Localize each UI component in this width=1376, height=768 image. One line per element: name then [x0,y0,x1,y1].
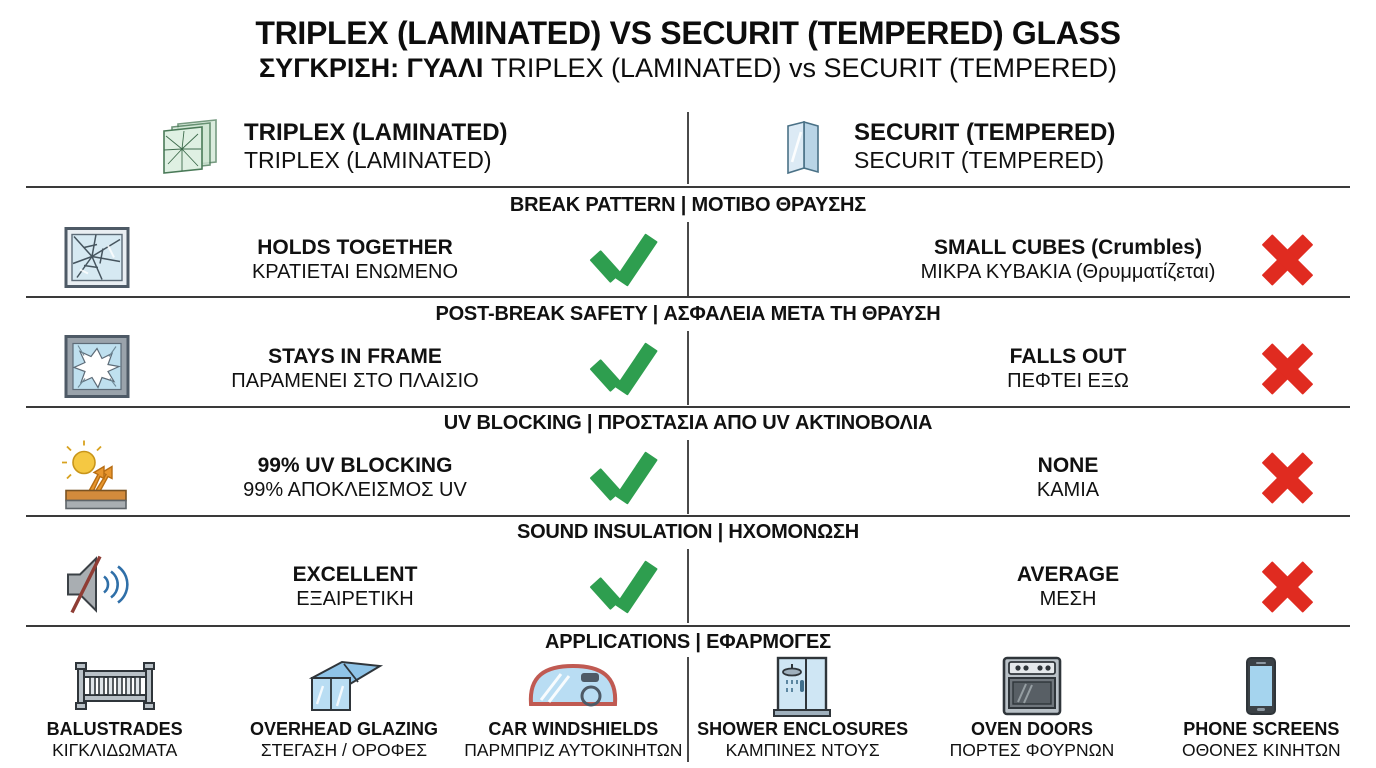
application-oven-doors: OVEN DOORS ΠΟΡΤΕΣ ΦΟΥΡΝΩΝ [917,655,1146,768]
application-overhead-glazing-el: ΣΤΕΓΑΣΗ / ΟΡΟΦΕΣ [261,740,427,761]
applications-right: SHOWER ENCLOSURES ΚΑΜΠΙΝΕΣ ΝΤΟΥΣ OVEN DO… [688,655,1376,768]
application-overhead-glazing: OVERHEAD GLAZING ΣΤΕΓΑΣΗ / ΟΡΟΦΕΣ [229,655,458,768]
section-band-break-pattern: BREAK PATTERN | ΜΟΤΙΒΟ ΘΡΑΥΣΗΣ [0,192,1376,218]
cross-icon [1260,560,1314,614]
application-oven-doors-en: OVEN DOORS [971,719,1093,740]
section-band-applications: APPLICATIONS | ΕΦΑΡΜΟΓΕΣ [0,629,1376,655]
row-break-pattern-left-check [590,234,656,286]
rule-above-sound-insulation [26,515,1350,517]
balustrade-icon [60,657,170,717]
row-break-pattern-left-el: ΚΡΑΤΙΕΤΑΙ ΕΝΩΜΕΝΟ [175,260,535,284]
title-main: TRIPLEX (LAMINATED) VS SECURIT (TEMPERED… [0,16,1376,52]
column-header-tempered: SECURIT (TEMPERED) SECURIT (TEMPERED) [688,108,1376,186]
column-header-row: TRIPLEX (LAMINATED) TRIPLEX (LAMINATED) … [0,108,1376,186]
column-header-laminated: TRIPLEX (LAMINATED) TRIPLEX (LAMINATED) [0,108,688,186]
row-post-break-safety-left-text: STAYS IN FRAME ΠΑΡΑΜΕΝΕΙ ΣΤΟ ΠΛΑΙΣΙΟ [175,345,535,393]
row-post-break-safety-right-text: FALLS OUT ΠΕΦΤΕΙ ΕΞΩ [848,345,1288,393]
application-car-windshields-el: ΠΑΡΜΠΡΙΖ ΑΥΤΟΚΙΝΗΤΩΝ [464,740,682,761]
application-balustrades-en: BALUSTRADES [47,719,183,740]
row-post-break-safety-left-el: ΠΑΡΑΜΕΝΕΙ ΣΤΟ ΠΛΑΙΣΙΟ [175,369,535,393]
windshield-icon [519,657,627,717]
check-icon [590,234,656,286]
row-break-pattern: HOLDS TOGETHER ΚΡΑΤΙΕΤΑΙ ΕΝΩΜΕΝΟ [0,219,1376,301]
title-subtitle-bold: ΣΥΓΚΡΙΣΗ: ΓΥΑΛΙ [259,53,491,83]
shower-enclosure-icon [766,657,840,717]
column-header-tempered-el: SECURIT (TEMPERED) [854,147,1115,173]
rule-above-post-break-safety [26,296,1350,298]
title-subtitle-rest: TRIPLEX (LAMINATED) vs SECURIT (TEMPERED… [491,53,1117,83]
row-sound-insulation-right: AVERAGE ΜΕΣΗ [688,546,1376,628]
column-header-tempered-text: SECURIT (TEMPERED) SECURIT (TEMPERED) [854,120,1115,173]
rule-above-applications [26,625,1350,627]
row-sound-insulation: EXCELLENT ΕΞΑΙΡΕΤΙΚΗ AVERAGE ΜΕΣΗ [0,546,1376,628]
row-uv-blocking-left: 99% UV BLOCKING 99% ΑΠΟΚΛΕΙΣΜΟΣ UV [0,437,688,519]
application-car-windshields-en: CAR WINDSHIELDS [488,719,658,740]
rule-above-uv-blocking [26,406,1350,408]
row-sound-insulation-left-text: EXCELLENT ΕΞΑΙΡΕΤΙΚΗ [175,563,535,611]
row-sound-insulation-right-el: ΜΕΣΗ [848,587,1288,611]
row-uv-blocking-right-el: ΚΑΜΙΑ [848,478,1288,502]
row-uv-blocking-right-text: NONE ΚΑΜΙΑ [848,454,1288,502]
application-shower-enclosures: SHOWER ENCLOSURES ΚΑΜΠΙΝΕΣ ΝΤΟΥΣ [688,655,917,768]
application-overhead-glazing-en: OVERHEAD GLAZING [250,719,438,740]
row-post-break-safety-right-en: FALLS OUT [848,345,1288,369]
application-car-windshields: CAR WINDSHIELDS ΠΑΡΜΠΡΙΖ ΑΥΤΟΚΙΝΗΤΩΝ [459,655,688,768]
row-sound-insulation-right-cross [1260,560,1314,614]
applications-row: BALUSTRADES ΚΙΓΚΛΙΔΩΜΑΤΑ OVERHEAD GL [0,655,1376,768]
application-shower-enclosures-en: SHOWER ENCLOSURES [697,719,908,740]
row-sound-insulation-left-en: EXCELLENT [175,563,535,587]
application-balustrades: BALUSTRADES ΚΙΓΚΛΙΔΩΜΑΤΑ [0,655,229,768]
cross-icon [1260,233,1314,287]
check-icon [590,561,656,613]
row-uv-blocking: 99% UV BLOCKING 99% ΑΠΟΚΛΕΙΣΜΟΣ UV [0,437,1376,519]
cross-icon [1260,342,1314,396]
title-subtitle: ΣΥΓΚΡΙΣΗ: ΓΥΑΛΙ TRIPLEX (LAMINATED) vs S… [0,53,1376,84]
tempered-glass-icon [768,116,840,178]
applications-left: BALUSTRADES ΚΙΓΚΛΙΔΩΜΑΤΑ OVERHEAD GL [0,655,688,768]
laminated-glass-icon [158,116,230,178]
sun-reflecting-icon [62,441,148,516]
application-phone-screens-en: PHONE SCREENS [1183,719,1339,740]
row-uv-blocking-right-en: NONE [848,454,1288,478]
row-post-break-safety-right-el: ΠΕΦΤΕΙ ΕΞΩ [848,369,1288,393]
infographic-page: TRIPLEX (LAMINATED) VS SECURIT (TEMPERED… [0,0,1376,768]
page-title: TRIPLEX (LAMINATED) VS SECURIT (TEMPERED… [0,0,1376,84]
row-break-pattern-left-en: HOLDS TOGETHER [175,236,535,260]
shattered-window-in-frame-icon [62,334,132,405]
cross-icon [1260,451,1314,505]
row-uv-blocking-left-el: 99% ΑΠΟΚΛΕΙΣΜΟΣ UV [175,478,535,502]
column-header-laminated-en: TRIPLEX (LAMINATED) [244,120,508,147]
row-break-pattern-right-en: SMALL CUBES (Crumbles) [848,236,1288,260]
speaker-muted-icon [62,553,146,622]
row-sound-insulation-right-text: AVERAGE ΜΕΣΗ [848,563,1288,611]
column-header-tempered-en: SECURIT (TEMPERED) [854,120,1115,147]
phone-screen-icon [1237,657,1285,717]
row-post-break-safety-left: STAYS IN FRAME ΠΑΡΑΜΕΝΕΙ ΣΤΟ ΠΛΑΙΣΙΟ [0,328,688,410]
skylight-icon [298,657,390,717]
row-break-pattern-left-text: HOLDS TOGETHER ΚΡΑΤΙΕΤΑΙ ΕΝΩΜΕΝΟ [175,236,535,284]
row-sound-insulation-left-check [590,561,656,613]
row-post-break-safety-right: FALLS OUT ΠΕΦΤΕΙ ΕΞΩ [688,328,1376,410]
column-header-laminated-text: TRIPLEX (LAMINATED) TRIPLEX (LAMINATED) [244,120,508,173]
row-sound-insulation-left-el: ΕΞΑΙΡΕΤΙΚΗ [175,587,535,611]
row-post-break-safety: STAYS IN FRAME ΠΑΡΑΜΕΝΕΙ ΣΤΟ ΠΛΑΙΣΙΟ [0,328,1376,410]
application-oven-doors-el: ΠΟΡΤΕΣ ΦΟΥΡΝΩΝ [950,740,1115,761]
section-band-post-break-safety: POST-BREAK SAFETY | ΑΣΦΑΛΕΙΑ ΜΕΤΑ ΤΗ ΘΡΑ… [0,301,1376,327]
check-icon [590,452,656,504]
row-uv-blocking-right: NONE ΚΑΜΙΑ [688,437,1376,519]
row-uv-blocking-left-text: 99% UV BLOCKING 99% ΑΠΟΚΛΕΙΣΜΟΣ UV [175,454,535,502]
row-break-pattern-right-el: ΜΙΚΡΑ ΚΥΒΑΚΙΑ (Θρυμματίζεται) [848,260,1288,284]
row-post-break-safety-left-check [590,343,656,395]
row-break-pattern-left: HOLDS TOGETHER ΚΡΑΤΙΕΤΑΙ ΕΝΩΜΕΝΟ [0,219,688,301]
row-break-pattern-right: SMALL CUBES (Crumbles) ΜΙΚΡΑ ΚΥΒΑΚΙΑ (Θρ… [688,219,1376,301]
application-phone-screens: PHONE SCREENS ΟΘΟΝΕΣ ΚΙΝΗΤΩΝ [1147,655,1376,768]
application-balustrades-el: ΚΙΓΚΛΙΔΩΜΑΤΑ [52,740,177,761]
row-break-pattern-right-cross [1260,233,1314,287]
row-uv-blocking-left-check [590,452,656,504]
row-sound-insulation-left: EXCELLENT ΕΞΑΙΡΕΤΙΚΗ [0,546,688,628]
row-break-pattern-right-text: SMALL CUBES (Crumbles) ΜΙΚΡΑ ΚΥΒΑΚΙΑ (Θρ… [848,236,1288,284]
rule-above-break-pattern [26,186,1350,188]
section-band-sound-insulation: SOUND INSULATION | ΗΧΟΜΟΝΩΣΗ [0,519,1376,545]
column-header-laminated-el: TRIPLEX (LAMINATED) [244,147,508,173]
cracked-window-icon [62,226,132,295]
row-post-break-safety-right-cross [1260,342,1314,396]
row-post-break-safety-left-en: STAYS IN FRAME [175,345,535,369]
application-phone-screens-el: ΟΘΟΝΕΣ ΚΙΝΗΤΩΝ [1182,740,1341,761]
row-uv-blocking-left-en: 99% UV BLOCKING [175,454,535,478]
row-uv-blocking-right-cross [1260,451,1314,505]
oven-icon [996,657,1068,717]
application-shower-enclosures-el: ΚΑΜΠΙΝΕΣ ΝΤΟΥΣ [726,740,880,761]
section-band-uv-blocking: UV BLOCKING | ΠΡΟΣΤΑΣΙΑ ΑΠΟ UV ΑΚΤΙΝΟΒΟΛ… [0,410,1376,436]
row-sound-insulation-right-en: AVERAGE [848,563,1288,587]
check-icon [590,343,656,395]
